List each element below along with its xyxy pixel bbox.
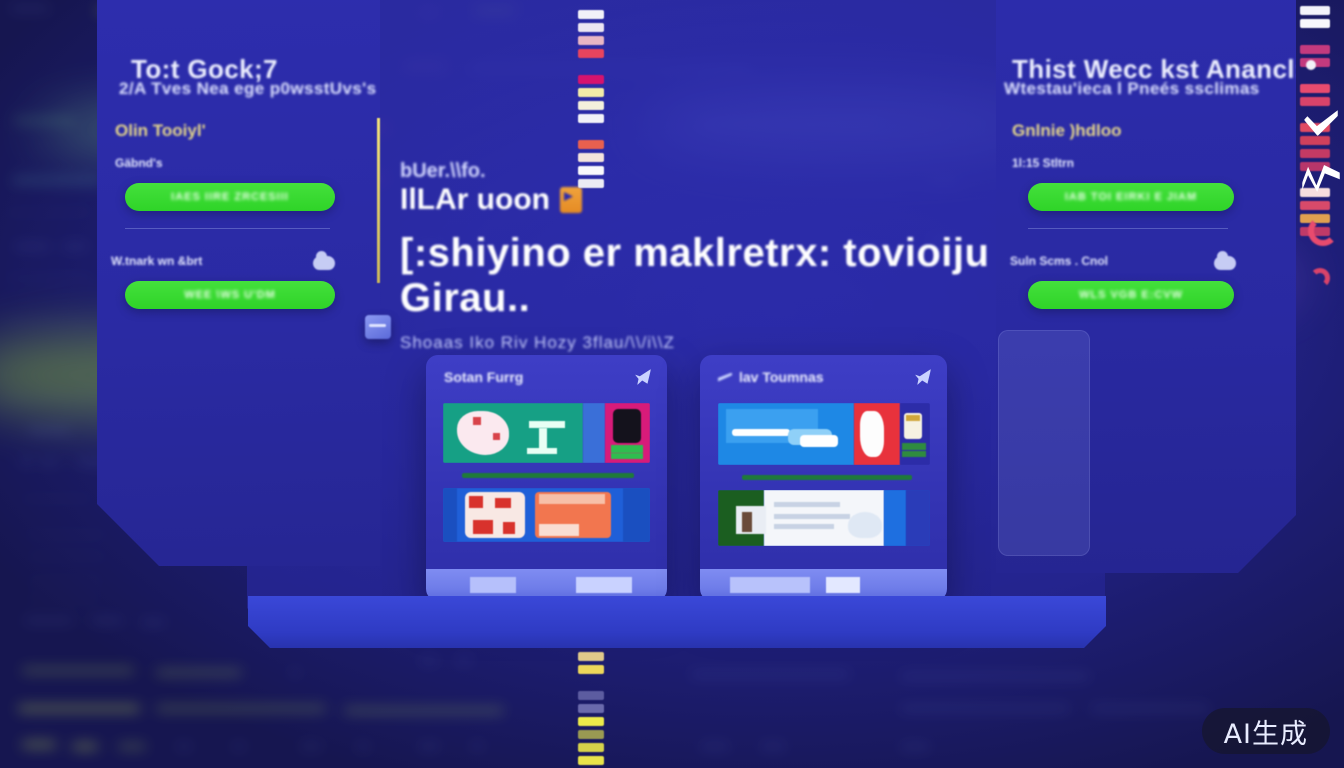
arc-icon xyxy=(1308,216,1338,246)
tick-bar-segment xyxy=(1300,19,1330,28)
hero-line-two-text: IlLAr uoon xyxy=(400,183,550,217)
tick-bar-segment xyxy=(1300,45,1330,54)
floating-cube-icon xyxy=(365,315,391,339)
tick-bar-segment xyxy=(1300,84,1330,93)
tick-bar-segment xyxy=(578,140,604,149)
tick-bar-segment xyxy=(1300,136,1330,145)
device-card-2-title-row: lav Toumnas xyxy=(718,369,824,385)
left-divider xyxy=(125,228,330,229)
left-secondary-label: W.tnark wn &brt xyxy=(111,254,202,268)
tick-bar-segment xyxy=(578,23,604,32)
device-card-1[interactable]: Sotan Furrg xyxy=(426,355,667,601)
tick-bar-segment xyxy=(578,691,604,700)
right-panel-field-label: 1l:15 Stltrn xyxy=(1012,156,1074,170)
tick-bar-segment xyxy=(578,704,604,713)
right-panel-section-label: Gnlnie )hdloo xyxy=(1012,121,1122,141)
tickbar-bottom-center xyxy=(578,652,604,768)
right-divider xyxy=(1028,228,1228,229)
tick-bar-segment xyxy=(578,153,604,162)
dot-icon xyxy=(1306,60,1316,70)
tick-bar-segment xyxy=(578,101,604,110)
cloud-icon xyxy=(1214,256,1236,270)
tick-bar-segment xyxy=(1300,149,1330,158)
tick-bar-segment xyxy=(578,88,604,97)
right-secondary-label: Suln Scms . Cnol xyxy=(1010,254,1108,268)
tick-bar-segment xyxy=(578,179,604,188)
tick-bar-segment xyxy=(1300,6,1330,15)
paper-plane-icon[interactable] xyxy=(915,369,931,385)
left-panel-field-label: Gäbnd's xyxy=(115,156,163,170)
ai-watermark: AI生成 xyxy=(1202,708,1330,754)
screenshot-root: To:t Gock;7 2/A Tves Nea ege p0wsstUvs's… xyxy=(0,0,1344,768)
hero-accent-bar xyxy=(377,118,380,283)
right-side-card xyxy=(998,330,1090,556)
tick-bar-segment xyxy=(578,10,604,19)
tick-bar-segment xyxy=(578,756,604,765)
tick-bar-segment xyxy=(578,127,604,136)
hero-eyebrow: bUer.\\fo. xyxy=(400,160,1000,183)
tick-bar-segment xyxy=(578,652,604,661)
left-secondary-cta-label: WEE \WS U'DM xyxy=(184,289,276,301)
tick-bar-segment xyxy=(578,166,604,175)
device-stand-base xyxy=(248,596,1106,648)
right-secondary-cta-button[interactable]: WLS VGB E:CVW xyxy=(1028,281,1234,309)
hero-title: [:shiyino er maklretrx: tovioiju Girau.. xyxy=(400,231,1000,321)
left-panel-subheading: 2/A Tves Nea ege p0wsstUvs's xyxy=(119,79,376,99)
tick-bar-segment xyxy=(578,743,604,752)
hero-subtitle: Shoaas Iko Riv Hozy 3flau/\\/i\\Z xyxy=(400,333,1000,353)
tick-bar-segment xyxy=(578,36,604,45)
hero-block: bUer.\\fo. IlLAr uoon [:shiyino er maklr… xyxy=(400,160,1000,353)
tick-bar-segment xyxy=(578,665,604,674)
right-primary-cta-label: IAB TOI EIRKI E JIAM xyxy=(1065,191,1197,203)
left-primary-cta-button[interactable]: IAES IIRE ZRCESIII xyxy=(125,183,335,211)
left-panel: To:t Gock;7 2/A Tves Nea ege p0wsstUvs's… xyxy=(97,0,380,566)
device-card-2[interactable]: lav Toumnas xyxy=(700,355,947,601)
device-card-1-title: Sotan Furrg xyxy=(444,369,523,385)
left-primary-cta-label: IAES IIRE ZRCESIII xyxy=(171,191,289,203)
paper-plane-icon[interactable] xyxy=(635,369,651,385)
tick-bar-segment xyxy=(578,730,604,739)
tick-bar-segment xyxy=(578,75,604,84)
tickbar-top-center xyxy=(578,10,604,188)
device-1-screen-bottom xyxy=(443,488,650,542)
tick-bar-segment xyxy=(578,114,604,123)
left-panel-section-label: Olin Tooiyl' xyxy=(115,121,206,141)
tick-bar-segment xyxy=(1300,188,1330,197)
right-secondary-cta-label: WLS VGB E:CVW xyxy=(1079,289,1183,301)
device-1-screen-top xyxy=(443,403,650,463)
hero-line-two: IlLAr uoon xyxy=(400,183,1000,217)
left-secondary-cta-button[interactable]: WEE \WS U'DM xyxy=(125,281,335,309)
device-card-1-title-row: Sotan Furrg xyxy=(444,369,523,385)
tick-bar-segment xyxy=(578,678,604,687)
right-panel-subheading: Wtestau'ieca l Pneés ssclimas xyxy=(1004,79,1260,99)
tick-bar-segment xyxy=(1300,97,1330,106)
tick-bar-segment xyxy=(578,717,604,726)
tick-bar-segment xyxy=(1300,71,1330,80)
device-card-2-title: lav Toumnas xyxy=(739,369,824,385)
arrow-icon xyxy=(718,373,732,382)
ai-watermark-label: AI生成 xyxy=(1224,712,1308,751)
tick-bar-segment xyxy=(578,49,604,58)
tick-bar-segment xyxy=(578,62,604,71)
tick-bar-segment xyxy=(1300,201,1330,210)
tick-bar-segment xyxy=(1300,32,1330,41)
device-2-screen-bottom xyxy=(718,490,930,546)
device-2-screen-top xyxy=(718,403,930,465)
arc-small-icon xyxy=(1310,268,1330,288)
right-primary-cta-button[interactable]: IAB TOI EIRKI E JIAM xyxy=(1028,183,1234,211)
cloud-icon xyxy=(313,256,335,270)
tick-bar-segment xyxy=(1300,110,1330,119)
flag-badge-icon xyxy=(560,187,582,213)
